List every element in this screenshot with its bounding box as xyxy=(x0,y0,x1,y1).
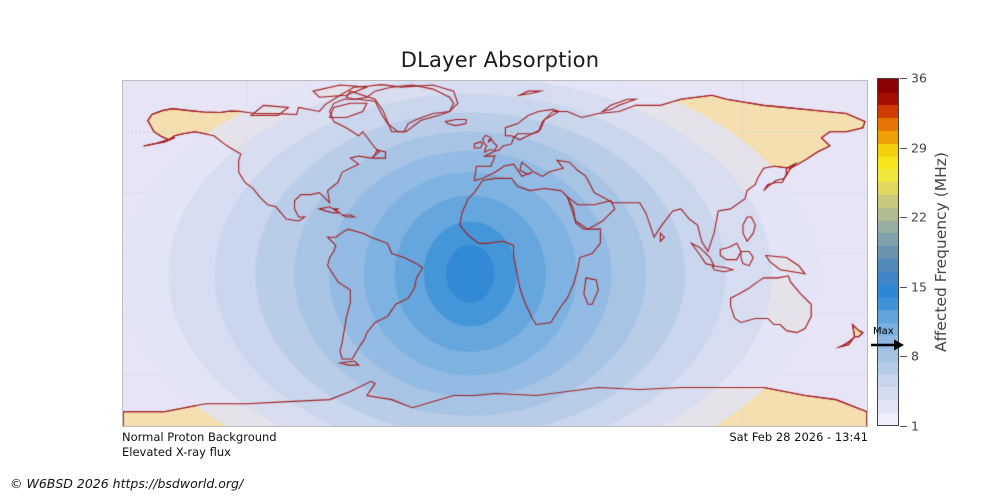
xray-status-text: Elevated X-ray flux xyxy=(122,445,277,460)
colorbar-tick-label: 36 xyxy=(911,71,927,86)
colorbar-tick xyxy=(900,356,907,357)
timestamp-label: Sat Feb 28 2026 - 13:41 xyxy=(729,430,868,444)
status-notes: Normal Proton Background Elevated X-ray … xyxy=(122,430,277,459)
colorbar-tick-label: 22 xyxy=(911,210,927,225)
colorbar[interactable] xyxy=(877,78,899,426)
colorbar-tick xyxy=(900,287,907,288)
world-map-plot[interactable] xyxy=(122,80,868,427)
colorbar-tick xyxy=(900,148,907,149)
absorption-map-canvas xyxy=(123,81,867,426)
colorbar-tick-label: 1 xyxy=(911,419,919,434)
colorbar-tick-label: 15 xyxy=(911,279,927,294)
colorbar-gradient xyxy=(878,79,898,425)
proton-status-text: Normal Proton Background xyxy=(122,430,277,445)
colorbar-axis-label: Affected Frequency (MHz) xyxy=(930,78,952,426)
copyright-footer: © W6BSD 2026 https://bsdworld.org/ xyxy=(10,476,243,491)
page-title: DLayer Absorption xyxy=(0,48,1000,72)
colorbar-tick xyxy=(900,217,907,218)
colorbar-tick-label: 8 xyxy=(911,349,919,364)
colorbar-tick xyxy=(900,78,907,79)
figure-canvas: DLayer Absorption 1815222936 Affected Fr… xyxy=(0,0,1000,500)
colorbar-tick xyxy=(900,426,907,427)
colorbar-tick-label: 29 xyxy=(911,140,927,155)
